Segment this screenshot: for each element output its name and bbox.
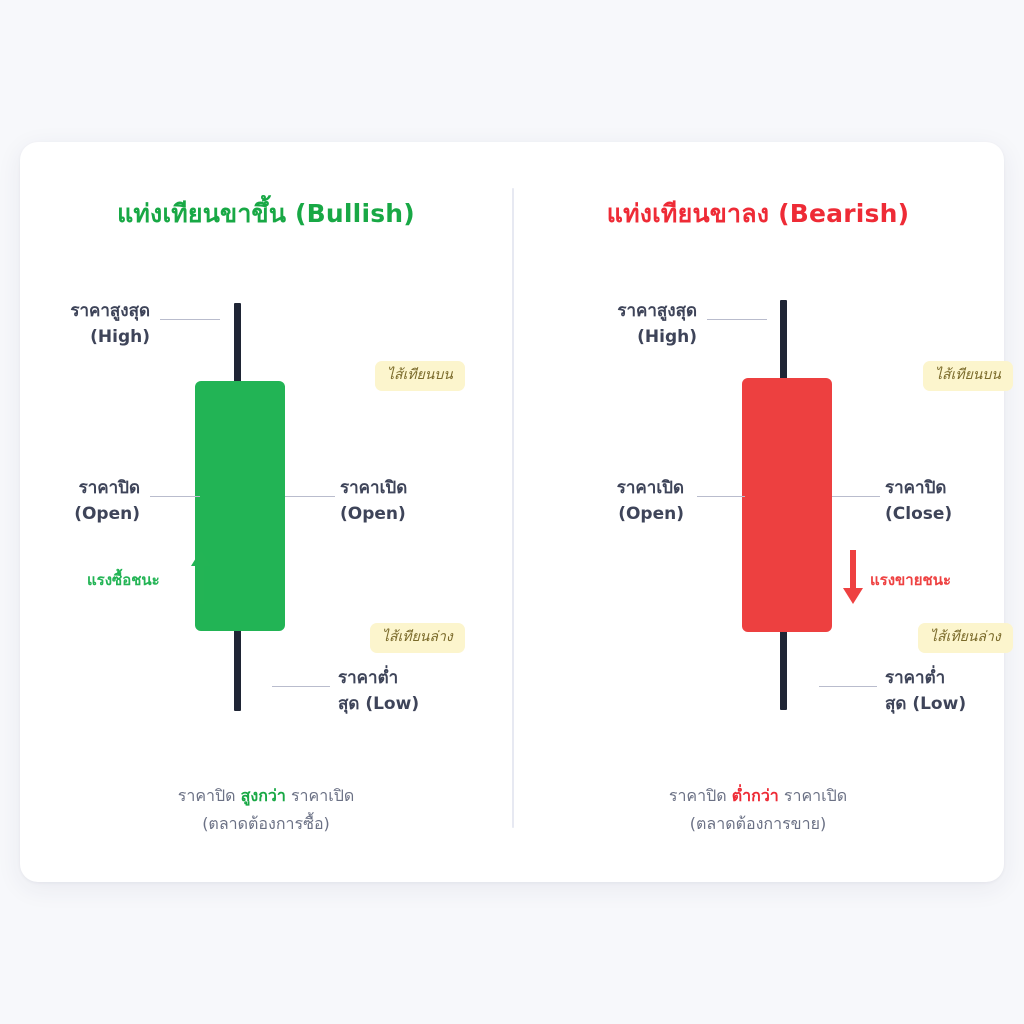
bullish-high-label: ราคาสูงสุด (High) (0, 298, 150, 351)
bearish-caption-suffix: ราคาเปิด (779, 786, 847, 805)
bullish-high-leader (160, 319, 220, 320)
arrow-up-icon (188, 548, 214, 606)
bullish-lower-wick-badge: ไส้เทียนล่าง (370, 623, 465, 653)
bullish-caption: ราคาปิด สูงกว่า ราคาเปิด (ตลาดต้องการซื้… (20, 782, 512, 838)
bullish-upper-wick-badge: ไส้เทียนบน (375, 361, 465, 391)
bullish-caption-sub: (ตลาดต้องการซื้อ) (20, 810, 512, 838)
bullish-left-price-label-th: ราคาปิด (0, 475, 140, 501)
bearish-caption-prefix: ราคาปิด (669, 786, 732, 805)
bearish-panel: แท่งเทียนขาลง (Bearish) ราคาสูงสุด (High… (512, 142, 1004, 882)
bearish-right-price-label-th: ราคาปิด (885, 475, 1024, 501)
bearish-right-price-label: ราคาปิด (Close) (885, 475, 1024, 528)
bullish-caption-prefix: ราคาปิด (178, 786, 241, 805)
bearish-upper-wick-badge: ไส้เทียนบน (923, 361, 1013, 391)
bullish-left-price-leader (150, 496, 200, 497)
diagram-stage: แท่งเทียนขาขึ้น (Bullish) ราคาสูงสุด (Hi… (0, 0, 1024, 1024)
bearish-low-label-en: สุด (Low) (885, 691, 1024, 717)
bullish-low-label: ราคาต่ำ สุด (Low) (338, 665, 528, 718)
bearish-left-price-leader (697, 496, 745, 497)
bearish-force-label: แรงขายชนะ (870, 568, 951, 592)
bearish-lower-wick-badge: ไส้เทียนล่าง (918, 623, 1013, 653)
arrow-down-icon (840, 548, 866, 606)
bullish-force-label: แรงซื้อชนะ (87, 568, 160, 592)
bullish-high-label-th: ราคาสูงสุด (0, 298, 150, 324)
bullish-low-leader (272, 686, 330, 687)
bullish-low-label-th: ราคาต่ำ (338, 665, 528, 691)
bearish-low-leader (819, 686, 877, 687)
bearish-caption-highlight: ต่ำกว่า (732, 786, 779, 805)
bearish-high-label-th: ราคาสูงสุด (497, 298, 697, 324)
bearish-left-price-label: ราคาเปิด (Open) (494, 475, 684, 528)
bullish-panel-title: แท่งเทียนขาขึ้น (Bullish) (20, 199, 512, 229)
bearish-left-price-label-th: ราคาเปิด (494, 475, 684, 501)
bearish-high-leader (707, 319, 767, 320)
bullish-left-price-label-en: (Open) (0, 501, 140, 527)
bearish-right-price-leader (832, 496, 880, 497)
bearish-low-label-th: ราคาต่ำ (885, 665, 1024, 691)
bearish-high-label: ราคาสูงสุด (High) (497, 298, 697, 351)
bearish-left-price-label-en: (Open) (494, 501, 684, 527)
bearish-caption-sub: (ตลาดต้องการขาย) (512, 810, 1004, 838)
bullish-low-label-en: สุด (Low) (338, 691, 528, 717)
bullish-caption-highlight: สูงกว่า (241, 786, 286, 805)
bearish-panel-title: แท่งเทียนขาลง (Bearish) (512, 199, 1004, 229)
bearish-high-label-en: (High) (497, 324, 697, 350)
bearish-low-label: ราคาต่ำ สุด (Low) (885, 665, 1024, 718)
bearish-right-price-label-en: (Close) (885, 501, 1024, 527)
bullish-high-label-en: (High) (0, 324, 150, 350)
bullish-right-price-leader (285, 496, 335, 497)
bullish-panel: แท่งเทียนขาขึ้น (Bullish) ราคาสูงสุด (Hi… (20, 142, 512, 882)
bearish-caption: ราคาปิด ต่ำกว่า ราคาเปิด (ตลาดต้องการขาย… (512, 782, 1004, 838)
bullish-left-price-label: ราคาปิด (Open) (0, 475, 140, 528)
bearish-candle-body (742, 378, 832, 632)
bullish-caption-suffix: ราคาเปิด (286, 786, 354, 805)
